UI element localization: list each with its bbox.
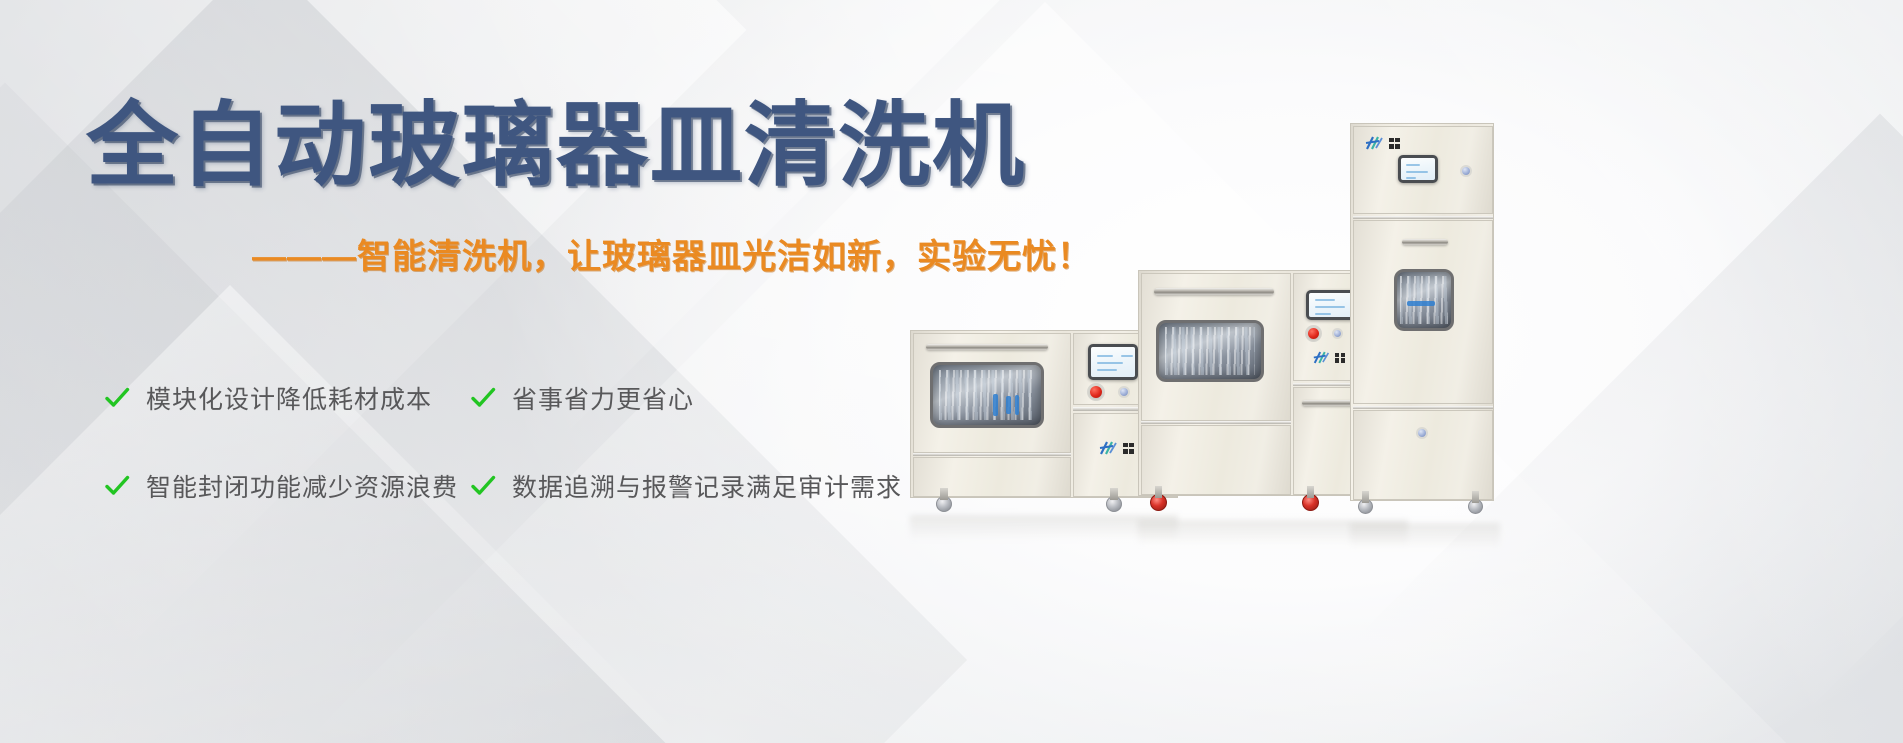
- glassware-load: [1400, 276, 1448, 323]
- logo-dots-icon: [1335, 353, 1345, 363]
- power-button[interactable]: [1462, 167, 1470, 175]
- brand-logo: [1312, 350, 1345, 365]
- page-title: 全自动玻璃器皿清洗机: [86, 100, 1026, 192]
- caster-wheel: [1468, 499, 1483, 514]
- caster-wheel: [1358, 499, 1373, 514]
- feature-item: 模块化设计降低耗材成本: [104, 380, 470, 416]
- check-icon: [104, 385, 130, 411]
- glassware-load: [1165, 327, 1255, 374]
- feature-list: 模块化设计降低耗材成本 省事省力更省心 智能封闭功能减少资源浪费 数据追溯与报警…: [104, 380, 902, 504]
- brand-logo: [1364, 135, 1400, 151]
- latch-button[interactable]: [1418, 429, 1426, 437]
- feature-item: 省事省力更省心: [470, 380, 902, 416]
- feature-item: 智能封闭功能减少资源浪费: [104, 468, 470, 504]
- product-hero-banner: 全自动玻璃器皿清洗机 ———智能清洗机，让玻璃器皿光洁如新，实验无忧！ 模块化设…: [0, 0, 1903, 743]
- feature-label: 省事省力更省心: [512, 380, 694, 416]
- emergency-stop-button[interactable]: [1308, 328, 1319, 339]
- page-subtitle: ———智能清洗机，让玻璃器皿光洁如新，实验无忧！: [252, 240, 1092, 274]
- logo-dots-icon: [1389, 138, 1400, 149]
- feature-item: 数据追溯与报警记录满足审计需求: [470, 468, 902, 504]
- banner-copy: 全自动玻璃器皿清洗机 ———智能清洗机，让玻璃器皿光洁如新，实验无忧！ 模块化设…: [0, 0, 1120, 743]
- check-icon: [104, 473, 130, 499]
- logo-dots-icon: [1123, 443, 1134, 454]
- feature-label: 模块化设计降低耗材成本: [146, 380, 432, 416]
- feature-label: 数据追溯与报警记录满足审计需求: [512, 468, 902, 504]
- product-image-tall-washer: [1350, 123, 1500, 523]
- feature-label: 智能封闭功能减少资源浪费: [146, 468, 458, 504]
- check-icon: [470, 473, 496, 499]
- caster-wheel: [1302, 494, 1319, 511]
- power-button[interactable]: [1120, 388, 1128, 396]
- caster-wheel: [1150, 494, 1167, 511]
- power-button[interactable]: [1334, 330, 1341, 337]
- check-icon: [470, 385, 496, 411]
